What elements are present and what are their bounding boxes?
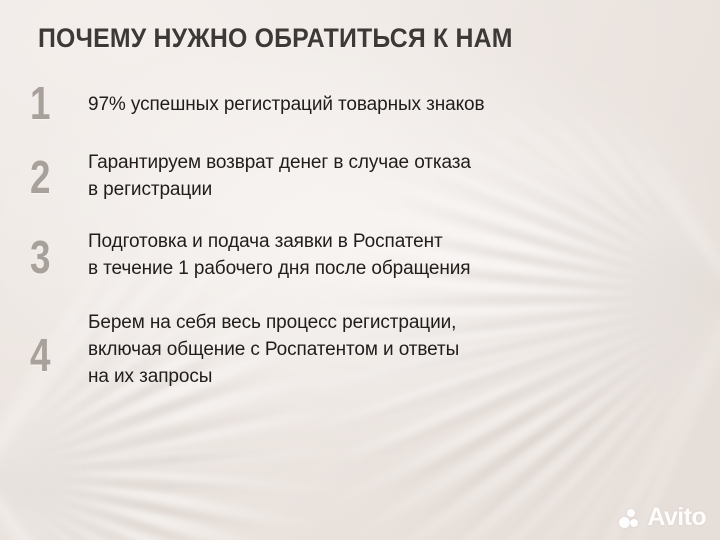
- page-title: ПОЧЕМУ НУЖНО ОБРАТИТЬСЯ К НАМ: [38, 22, 513, 54]
- list-item-number: 3: [30, 234, 76, 280]
- list-item-line: Подготовка и подача заявки в Роспатент: [88, 228, 720, 255]
- list-item: 4 Берем на себя весь процесс регистрации…: [0, 308, 720, 390]
- list-item: 3 Подготовка и подача заявки в Роспатент…: [0, 227, 720, 282]
- list-item-line: в регистрации: [88, 176, 720, 203]
- list-item: 1 97% успешных регистраций товарных знак…: [0, 86, 720, 126]
- avito-brand-label: Avito: [647, 505, 706, 530]
- list-item-number: 4: [30, 332, 76, 378]
- list-item-number: 1: [30, 80, 76, 126]
- poster: ПОЧЕМУ НУЖНО ОБРАТИТЬСЯ К НАМ 1 97% успе…: [0, 0, 720, 540]
- list-item-line: 97% успешных регистраций товарных знаков: [88, 91, 720, 118]
- list-item-text: Подготовка и подача заявки в Роспатент в…: [88, 227, 720, 282]
- list-item-text: Берем на себя весь процесс регистрации, …: [88, 308, 720, 390]
- list-item-line: в течение 1 рабочего дня после обращения: [88, 255, 720, 282]
- list-item-line: на их запросы: [88, 363, 720, 390]
- benefits-list: 1 97% успешных регистраций товарных знак…: [0, 86, 720, 410]
- avito-watermark: Avito: [619, 505, 706, 530]
- list-item-line: Гарантируем возврат денег в случае отказ…: [88, 149, 720, 176]
- list-item-text: Гарантируем возврат денег в случае отказ…: [88, 148, 720, 203]
- avito-dots-icon: [619, 507, 643, 529]
- list-item-text: 97% успешных регистраций товарных знаков: [88, 86, 720, 118]
- list-item-line: включая общение с Роспатентом и ответы: [88, 336, 720, 363]
- list-item-number: 2: [30, 154, 76, 200]
- list-item-line: Берем на себя весь процесс регистрации,: [88, 309, 720, 336]
- list-item: 2 Гарантируем возврат денег в случае отк…: [0, 148, 720, 203]
